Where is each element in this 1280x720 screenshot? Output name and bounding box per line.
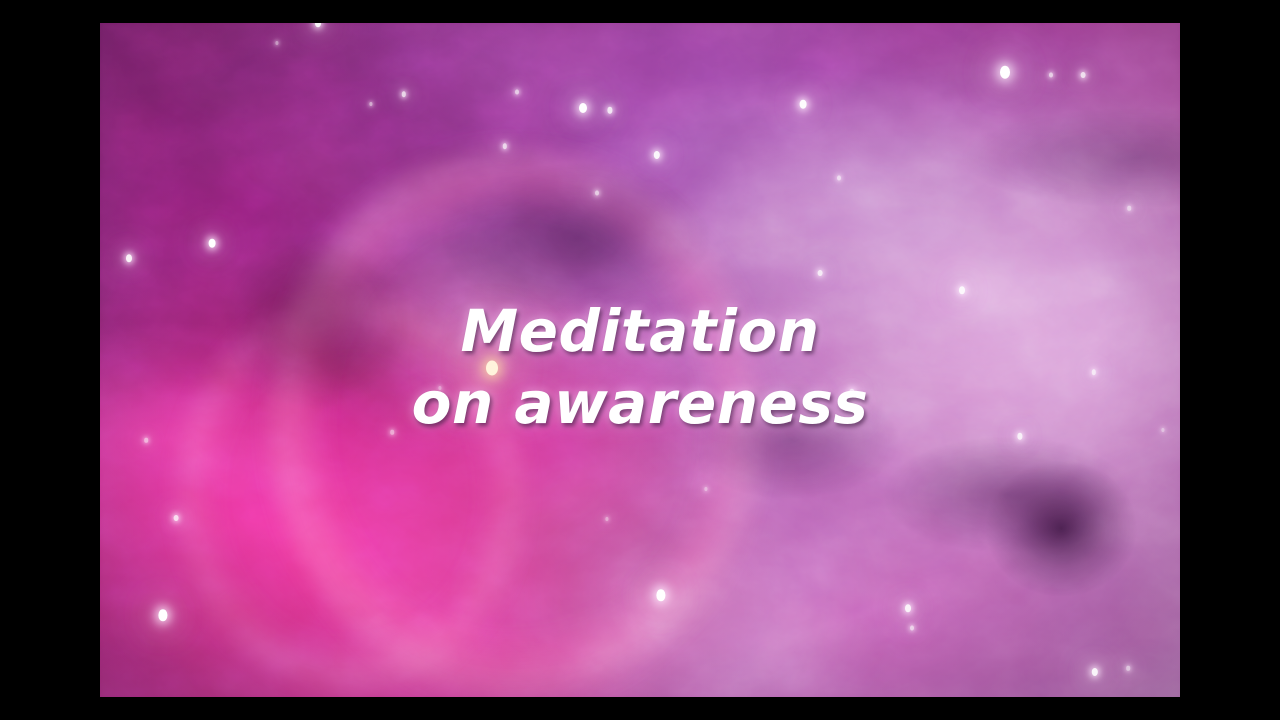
video-frame: Meditation on awareness bbox=[100, 23, 1180, 697]
star bbox=[910, 626, 914, 631]
star bbox=[486, 361, 498, 376]
star bbox=[818, 270, 823, 276]
star bbox=[607, 107, 612, 114]
star bbox=[158, 609, 167, 621]
nebula-lavender-layer bbox=[100, 23, 1180, 697]
star bbox=[402, 91, 406, 97]
nebula-texture-fine bbox=[100, 23, 1180, 697]
nebula-base-layer bbox=[100, 23, 1180, 697]
star bbox=[1161, 428, 1164, 432]
star bbox=[275, 41, 278, 45]
star bbox=[595, 191, 599, 196]
star bbox=[515, 90, 519, 95]
title-line-1: Meditation bbox=[100, 295, 1180, 367]
star bbox=[390, 430, 394, 435]
star bbox=[1126, 666, 1130, 671]
nebula-crimson-layer bbox=[100, 23, 1180, 697]
star bbox=[503, 143, 507, 149]
nebula-shell-arc bbox=[100, 23, 1180, 697]
title-block: Meditation on awareness bbox=[100, 295, 1180, 439]
star bbox=[174, 515, 179, 521]
star bbox=[315, 23, 321, 27]
star bbox=[1127, 206, 1131, 211]
star bbox=[1092, 369, 1096, 375]
star bbox=[837, 176, 841, 181]
star bbox=[1081, 72, 1086, 78]
slide-root: Meditation on awareness bbox=[0, 0, 1280, 720]
nebula-dust-lanes bbox=[100, 23, 1180, 697]
star bbox=[1092, 668, 1098, 676]
star bbox=[605, 517, 608, 521]
star bbox=[959, 286, 965, 294]
star bbox=[1017, 433, 1022, 440]
star bbox=[144, 438, 148, 443]
nebula-vignette bbox=[100, 23, 1180, 697]
star bbox=[438, 386, 441, 390]
star bbox=[656, 589, 665, 601]
star bbox=[126, 254, 132, 262]
star bbox=[209, 239, 216, 248]
star bbox=[654, 151, 660, 159]
star bbox=[1049, 73, 1053, 78]
star bbox=[800, 100, 807, 109]
star bbox=[579, 103, 587, 113]
star bbox=[369, 102, 372, 106]
star-field bbox=[100, 23, 1180, 697]
star bbox=[1000, 66, 1010, 79]
title-line-2: on awareness bbox=[100, 367, 1180, 439]
star bbox=[849, 389, 854, 396]
star bbox=[905, 604, 911, 612]
star bbox=[704, 487, 707, 491]
nebula-texture-coarse bbox=[100, 23, 1180, 697]
